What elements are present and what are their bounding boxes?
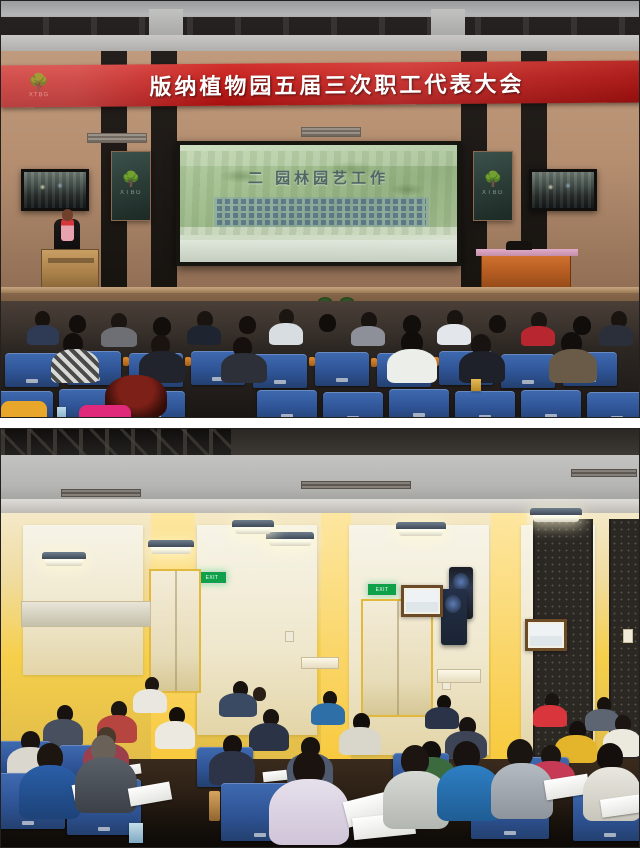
wall-outlet-3 xyxy=(623,629,633,643)
stage-table-top xyxy=(476,249,578,256)
monitor-right[interactable] xyxy=(529,169,597,211)
attendee-body xyxy=(101,327,137,347)
wall-vent-left xyxy=(87,133,147,143)
monitor-left-screen xyxy=(24,172,86,208)
audience-area xyxy=(1,301,639,418)
attendee-blue-polo xyxy=(19,765,81,819)
attendee-body xyxy=(599,325,633,346)
ceiling-light-2 xyxy=(269,537,311,546)
attendee-head xyxy=(153,317,171,336)
attendee-body xyxy=(387,349,437,383)
attendee-pink-top xyxy=(79,405,131,418)
attendee-body xyxy=(27,325,59,345)
exit-sign-label: EXIT xyxy=(376,587,389,593)
slide-title: 二 园林园艺工作 xyxy=(180,167,457,188)
photo-gap xyxy=(0,418,640,428)
framed-picture-2 xyxy=(525,619,567,651)
attendee-body xyxy=(459,351,505,383)
armrest xyxy=(371,358,377,367)
armrest xyxy=(209,791,220,821)
wall-shelf-1 xyxy=(301,657,339,669)
slide-body-line xyxy=(217,199,426,204)
tree-icon: 🌳 xyxy=(474,170,512,188)
attendee-body xyxy=(351,326,385,346)
air-vent-1 xyxy=(61,489,141,497)
xtbg-abbr-label: XTBG xyxy=(17,92,61,98)
speaker-person xyxy=(54,207,80,253)
attendee-body xyxy=(269,323,303,345)
congress-banner: 🌳 XTBG 版纳植物园五届三次职工代表大会 xyxy=(1,60,640,107)
water-bottle xyxy=(57,407,66,418)
tree-icon: 🌳 xyxy=(112,170,150,188)
monitor-left[interactable] xyxy=(21,169,89,211)
seat xyxy=(323,392,383,418)
armrest xyxy=(123,357,129,366)
water-bottle xyxy=(471,379,481,391)
attendee-body xyxy=(133,689,167,713)
wall-outlet-1 xyxy=(285,631,294,642)
armrest xyxy=(309,357,315,366)
exit-sign-1: EXIT xyxy=(197,571,227,584)
attendee-head xyxy=(69,315,86,333)
exit-sign-2: EXIT xyxy=(367,583,397,596)
light-hood xyxy=(42,552,86,559)
xtbg-logo: 🌳 XTBG xyxy=(17,74,61,98)
armrest xyxy=(185,357,191,366)
ceiling-light-3 xyxy=(399,527,443,536)
light-hood xyxy=(396,522,446,529)
side-banner-left: 🌳 XTBG xyxy=(111,151,151,221)
seat xyxy=(521,390,581,418)
tree-icon: 🌳 xyxy=(17,74,61,91)
attendee-body xyxy=(491,763,553,819)
attendee-body xyxy=(219,693,257,717)
light-hood xyxy=(530,508,582,515)
slide-body-line xyxy=(217,213,426,218)
wall-panel-1 xyxy=(23,525,143,675)
podium-plate xyxy=(48,258,94,263)
speaker-scarf xyxy=(61,219,74,241)
wall-vent-center xyxy=(301,127,361,137)
photo-page: 🌳 XTBG 版纳植物园五届三次职工代表大会 二 园林园艺工作 🌳 xyxy=(0,0,640,850)
air-vent-3 xyxy=(571,469,637,477)
attendee-body xyxy=(549,349,597,383)
attendee-body-plaid xyxy=(51,349,99,383)
slide-body-text xyxy=(214,197,429,227)
projection-screen-frame[interactable]: 二 园林园艺工作 xyxy=(176,141,461,266)
seat xyxy=(455,391,515,418)
foreground-audience xyxy=(1,719,639,848)
side-banner-right-label: XTBG xyxy=(474,190,512,196)
seat xyxy=(315,352,369,386)
monitor-right-screen xyxy=(532,172,594,208)
speaker-head xyxy=(62,209,73,221)
ceiling-light-6 xyxy=(235,525,271,534)
light-hood xyxy=(232,520,274,527)
seat xyxy=(501,354,555,388)
attendee-head xyxy=(253,687,266,701)
attendee-body xyxy=(437,324,471,345)
slide-body-line xyxy=(217,206,426,211)
attendee-grey-jacket xyxy=(75,757,137,813)
stage-and-audience-photo[interactable]: 🌳 XTBG 版纳植物园五届三次职工代表大会 二 园林园艺工作 🌳 xyxy=(0,0,640,418)
ceiling-light-4 xyxy=(533,513,579,522)
seat xyxy=(389,389,449,418)
water-bottle xyxy=(129,823,143,843)
framed-picture-1 xyxy=(401,585,443,617)
stage-table-equipment xyxy=(506,241,532,250)
attendee-head xyxy=(319,314,336,332)
air-vent-2 xyxy=(301,481,411,489)
attendee-body xyxy=(221,353,267,383)
seat xyxy=(257,390,317,418)
ceiling-light-5 xyxy=(45,557,83,566)
attendee-purple-shirt xyxy=(269,779,349,845)
wall-ledge xyxy=(21,601,151,627)
attendee-head xyxy=(239,316,256,334)
attendee-body xyxy=(187,325,221,345)
attendee-head xyxy=(489,315,506,333)
light-hood xyxy=(148,540,194,547)
slide-body-line xyxy=(217,220,426,225)
attendee-yellow-top xyxy=(1,401,47,418)
exit-sign-label: EXIT xyxy=(206,575,219,581)
side-banner-left-label: XTBG xyxy=(112,190,150,196)
light-hood xyxy=(266,532,314,539)
slide-footer-band xyxy=(180,240,457,262)
seat xyxy=(587,392,640,418)
attendee-body xyxy=(521,326,555,346)
banner-title: 版纳植物园五届三次职工代表大会 xyxy=(61,65,640,102)
wall-speaker-2 xyxy=(441,589,467,645)
audience-seating-photo[interactable]: EXIT EXIT xyxy=(0,428,640,848)
projection-screen: 二 园林园艺工作 xyxy=(180,145,457,262)
side-banner-right: 🌳 XTBG xyxy=(473,151,513,221)
stage-edge xyxy=(1,287,639,293)
ceiling-light-1 xyxy=(151,545,191,554)
